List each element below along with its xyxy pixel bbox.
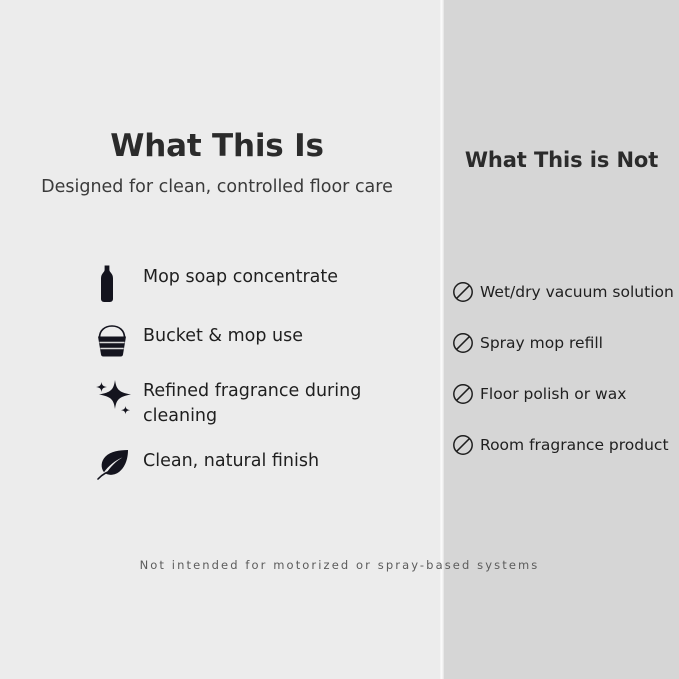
prohibition-icon bbox=[452, 281, 480, 303]
list-item-label: Mop soap concentrate bbox=[143, 262, 338, 290]
list-item-label: Floor polish or wax bbox=[480, 383, 626, 405]
list-item: Clean, natural finish bbox=[95, 446, 425, 484]
right-panel-title: What This is Not bbox=[444, 146, 679, 174]
list-item-label: Wet/dry vacuum solution bbox=[480, 281, 674, 303]
prohibition-icon bbox=[452, 383, 480, 405]
benefits-list: Mop soap concentrate Bucket & mop use bbox=[95, 262, 425, 501]
sparkle-icon bbox=[95, 376, 143, 420]
list-item: Floor polish or wax bbox=[452, 380, 679, 408]
list-item: Mop soap concentrate bbox=[95, 262, 425, 304]
right-header: What This is Not bbox=[444, 146, 679, 174]
list-item-label: Refined fragrance during cleaning bbox=[143, 376, 393, 429]
list-item-label: Spray mop refill bbox=[480, 332, 603, 354]
list-item-label: Room fragrance product bbox=[480, 434, 669, 456]
footer-note: Not intended for motorized or spray-base… bbox=[0, 558, 679, 572]
prohibition-icon bbox=[452, 434, 480, 456]
comparison-infographic: What This Is Designed for clean, control… bbox=[0, 0, 679, 679]
list-item: Spray mop refill bbox=[452, 329, 679, 357]
list-item-label: Bucket & mop use bbox=[143, 321, 303, 349]
bottle-icon bbox=[95, 262, 143, 304]
list-item: Wet/dry vacuum solution bbox=[452, 278, 679, 306]
leaf-icon bbox=[95, 446, 143, 482]
list-item-label: Clean, natural finish bbox=[143, 446, 319, 474]
left-header: What This Is Designed for clean, control… bbox=[0, 126, 434, 199]
list-item: Refined fragrance during cleaning bbox=[95, 376, 425, 429]
left-panel-title: What This Is bbox=[0, 126, 434, 166]
prohibition-icon bbox=[452, 332, 480, 354]
left-panel-subtitle: Designed for clean, controlled floor car… bbox=[0, 175, 434, 199]
list-item: Bucket & mop use bbox=[95, 321, 425, 359]
bucket-icon bbox=[95, 321, 143, 359]
exclusions-list: Wet/dry vacuum solution Spray mop refill… bbox=[452, 278, 679, 482]
list-item: Room fragrance product bbox=[452, 431, 679, 459]
panel-divider bbox=[440, 0, 444, 679]
